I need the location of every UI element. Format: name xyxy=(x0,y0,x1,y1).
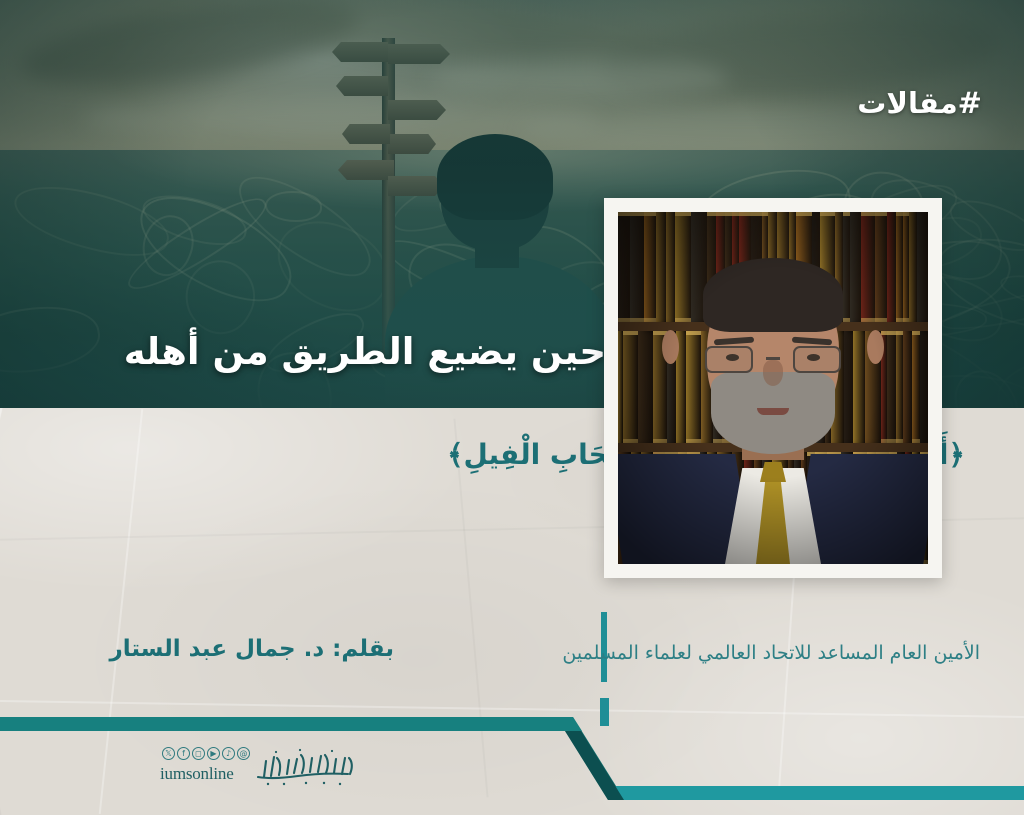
author-portrait-frame xyxy=(604,198,942,578)
article-poster: #مقالات حين يضيع الطريق من أهله ﴿أَلَمْ … xyxy=(0,0,1024,815)
threads-icon[interactable]: @ xyxy=(237,747,250,760)
author-portrait-photo xyxy=(618,212,928,564)
x-twitter-icon[interactable]: 𝕏 xyxy=(162,747,175,760)
portrait-vignette xyxy=(618,212,928,564)
hashtag-label: #مقالات xyxy=(857,86,982,120)
social-icons-row[interactable]: 𝕏 f ◻ ▶ ♪ @ xyxy=(162,747,250,760)
facebook-icon[interactable]: f xyxy=(177,747,190,760)
author-byline: بقلم: د. جمال عبد الستار xyxy=(109,636,394,662)
author-title: الأمين العام المساعد للاتحاد العالمي لعل… xyxy=(562,642,980,664)
page-title: حين يضيع الطريق من أهله xyxy=(124,330,606,373)
youtube-icon[interactable]: ▶ xyxy=(207,747,220,760)
brand-name: iumsonline xyxy=(160,764,234,784)
instagram-icon[interactable]: ◻ xyxy=(192,747,205,760)
arabic-calligraphy-logo: الاتحاد العالمي لعلماء المسلمين xyxy=(254,743,360,791)
iums-logo[interactable]: 𝕏 f ◻ ▶ ♪ @ iumsonline الاتحاد العالمي ل… xyxy=(160,745,360,797)
tiktok-icon[interactable]: ♪ xyxy=(222,747,235,760)
